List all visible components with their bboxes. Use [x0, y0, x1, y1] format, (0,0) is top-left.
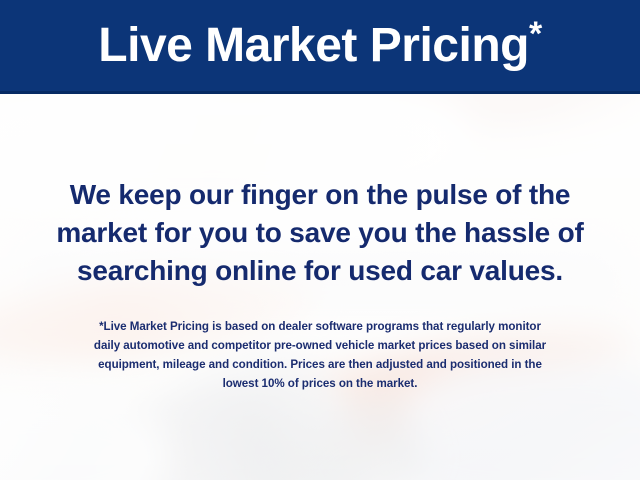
disclaimer-text: *Live Market Pricing is based on dealer … [0, 317, 640, 393]
banner-title-asterisk: * [529, 15, 542, 53]
banner-title-text: Live Market Pricing [98, 19, 529, 72]
disclaimer-line-3: equipment, mileage and condition. Prices… [0, 355, 640, 374]
headline-line-2: market for you to save you the hassle of [0, 214, 640, 252]
banner-title: Live Market Pricing* [98, 17, 541, 74]
disclaimer-line-1: *Live Market Pricing is based on dealer … [0, 317, 640, 336]
headline-line-3: searching online for used car values. [0, 252, 640, 290]
live-market-pricing-promo: Live Market Pricing* We keep our finger … [0, 0, 640, 480]
headline: We keep our finger on the pulse of the m… [0, 176, 640, 290]
headline-line-1: We keep our finger on the pulse of the [0, 176, 640, 214]
title-banner: Live Market Pricing* [0, 0, 640, 94]
disclaimer-line-2: daily automotive and competitor pre-owne… [0, 336, 640, 355]
disclaimer-line-4: lowest 10% of prices on the market. [0, 374, 640, 393]
